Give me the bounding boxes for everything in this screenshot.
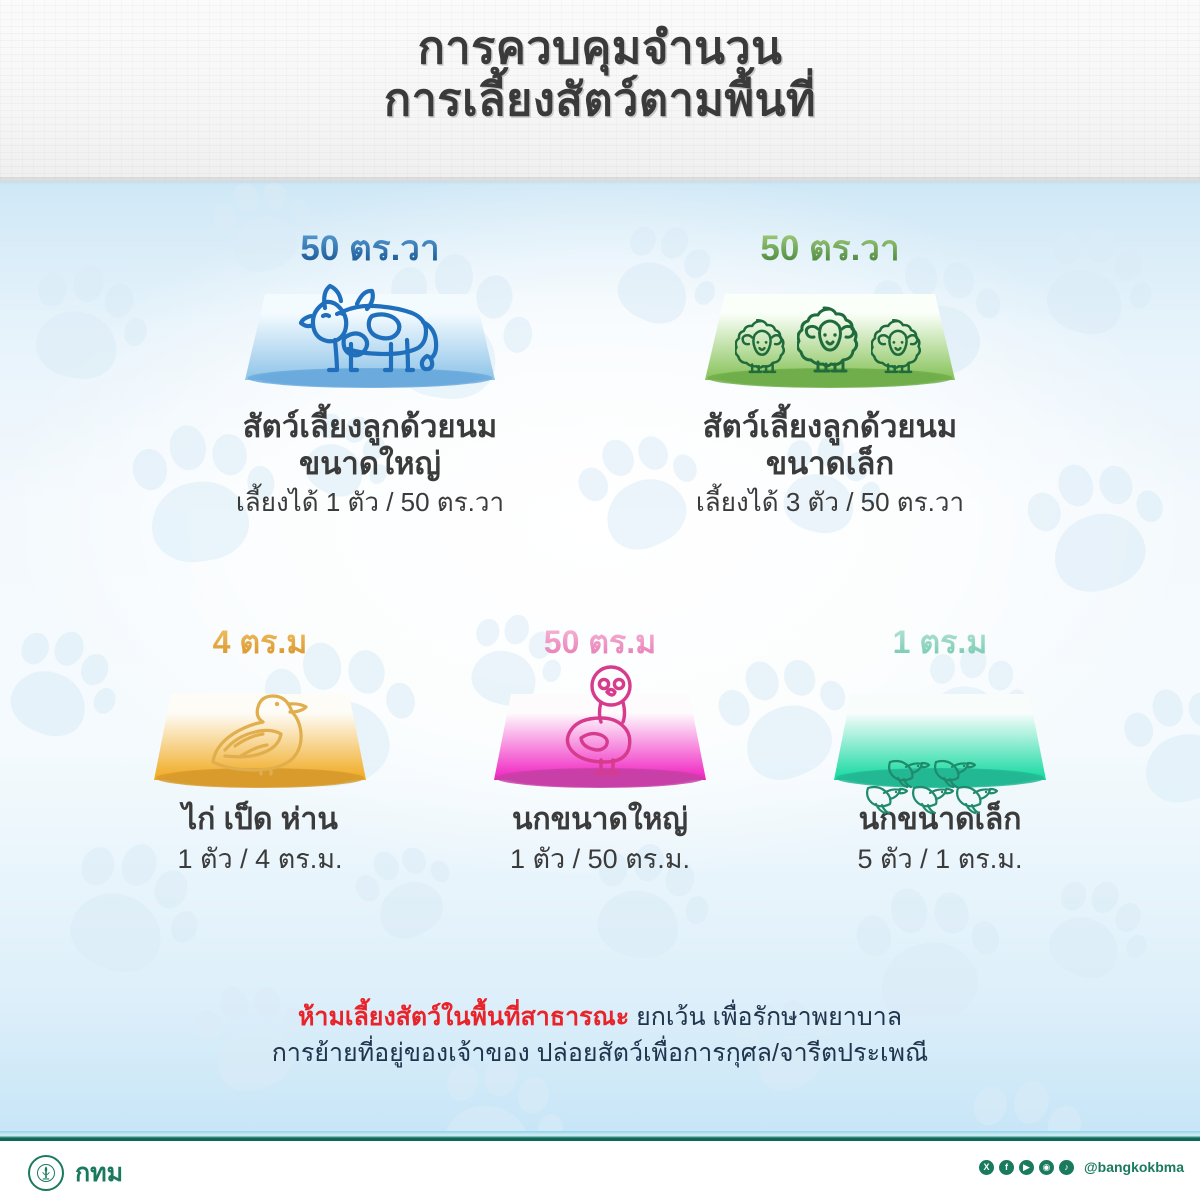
animal-name: สัตว์เลี้ยงลูกด้วยนมขนาดเล็ก [665,408,995,482]
small-bird-icon [908,784,956,818]
animal-illustration [705,272,955,392]
animal-illustration [494,664,706,792]
cow-icon-group [245,278,495,376]
bma-logo-icon [28,1155,64,1191]
instagram-icon[interactable]: ◉ [1039,1160,1054,1175]
card-row-bottom: 4 ตร.ม ไก่ เป็ด ห่าน1 ตัว / 4 ตร.ม.50 ตร… [0,626,1200,877]
sheep-icon-group [705,304,955,376]
header-band: การควบคุมจำนวน การเลี้ยงสัตว์ตามพื้นที่ [0,0,1200,181]
animal-card: 50 ตร.ม นกขนาดใหญ่1 ตัว / 50 ตร.ม. [450,626,750,877]
social-links[interactable]: Xf▶◉♪@bangkokbma [979,1159,1184,1175]
tiktok-icon[interactable]: ♪ [1059,1160,1074,1175]
allowance-rate: เลี้ยงได้ 3 ตัว / 50 ตร.วา [665,486,995,520]
brand-name: กทม [75,1153,123,1193]
sheep-icon [735,317,789,376]
facebook-icon[interactable]: f [999,1160,1014,1175]
animal-name-line-2: ขนาดใหญ่ [205,445,535,482]
allowance-rate: 1 ตัว / 4 ตร.ม. [110,842,410,877]
warning-dark-text: ยกเว้น เพื่อรักษาพยาบาล [629,1003,902,1031]
infographic-poster: การควบคุมจำนวน การเลี้ยงสัตว์ตามพื้นที่ … [0,0,1200,1200]
large-bird-icon [547,664,653,776]
allowance-rate: เลี้ยงได้ 1 ตัว / 50 ตร.วา [205,486,535,520]
area-requirement-label: 50 ตร.วา [205,231,535,266]
small-bird-icon [952,784,1000,818]
duck-icon [201,680,319,776]
area-requirement-label: 4 ตร.ม [110,626,410,658]
warning-red-text: ห้ามเลี้ยงสัตว์ในพื้นที่สาธารณะ [298,1003,629,1031]
animal-card: 50 ตร.วา สัตว์เลี้ยงลูกด้วยนมขนาดใหญ่เลี… [205,231,535,520]
content-area: 50 ตร.วา สัตว์เลี้ยงลูกด้วยนมขนาดใหญ่เลี… [0,181,1200,1131]
large-bird-icon-group [494,664,706,776]
small-bird-icon [862,784,910,818]
duck-icon-group [154,680,366,776]
warning-line-2: การย้ายที่อยู่ของเจ้าของ ปล่อยสัตว์เพื่อ… [0,1035,1200,1071]
footer-divider-bar [0,1131,1200,1141]
area-requirement-label: 50 ตร.วา [665,231,995,266]
title-line-2: การเลี้ยงสัตว์ตามพื้นที่ [0,74,1200,126]
animal-card: 50 ตร.วา [665,231,995,520]
warning-note: ห้ามเลี้ยงสัตว์ในพื้นที่สาธารณะ ยกเว้น เ… [0,999,1200,1072]
social-handle: @bangkokbma [1084,1159,1184,1175]
allowance-rate: 5 ตัว / 1 ตร.ม. [790,842,1090,877]
animal-card: 1 ตร.ม นกขนาดเล็ก5 ตัว / 1 ตร.ม. [790,626,1090,877]
area-requirement-label: 50 ตร.ม [450,626,750,658]
area-requirement-label: 1 ตร.ม [790,626,1090,658]
animal-name: ไก่ เป็ด ห่าน [110,802,410,838]
animal-name: นกขนาดใหญ่ [450,802,750,838]
footer: กทม Xf▶◉♪@bangkokbma [0,1141,1200,1200]
animal-name: สัตว์เลี้ยงลูกด้วยนมขนาดใหญ่ [205,408,535,482]
brand-lockup: กทม [28,1153,123,1193]
sheep-icon [871,317,925,376]
page-title: การควบคุมจำนวน การเลี้ยงสัตว์ตามพื้นที่ [0,22,1200,126]
animal-card: 4 ตร.ม ไก่ เป็ด ห่าน1 ตัว / 4 ตร.ม. [110,626,410,877]
animal-illustration [154,664,366,792]
youtube-icon[interactable]: ▶ [1019,1160,1034,1175]
animal-name-line-2: ขนาดเล็ก [665,445,995,482]
animal-illustration [834,664,1046,792]
card-row-top: 50 ตร.วา สัตว์เลี้ยงลูกด้วยนมขนาดใหญ่เลี… [0,231,1200,520]
cow-icon [295,278,445,376]
sheep-icon [797,304,863,376]
x-icon[interactable]: X [979,1160,994,1175]
title-line-1: การควบคุมจำนวน [418,22,783,73]
allowance-rate: 1 ตัว / 50 ตร.ม. [450,842,750,877]
animal-illustration [245,272,495,392]
